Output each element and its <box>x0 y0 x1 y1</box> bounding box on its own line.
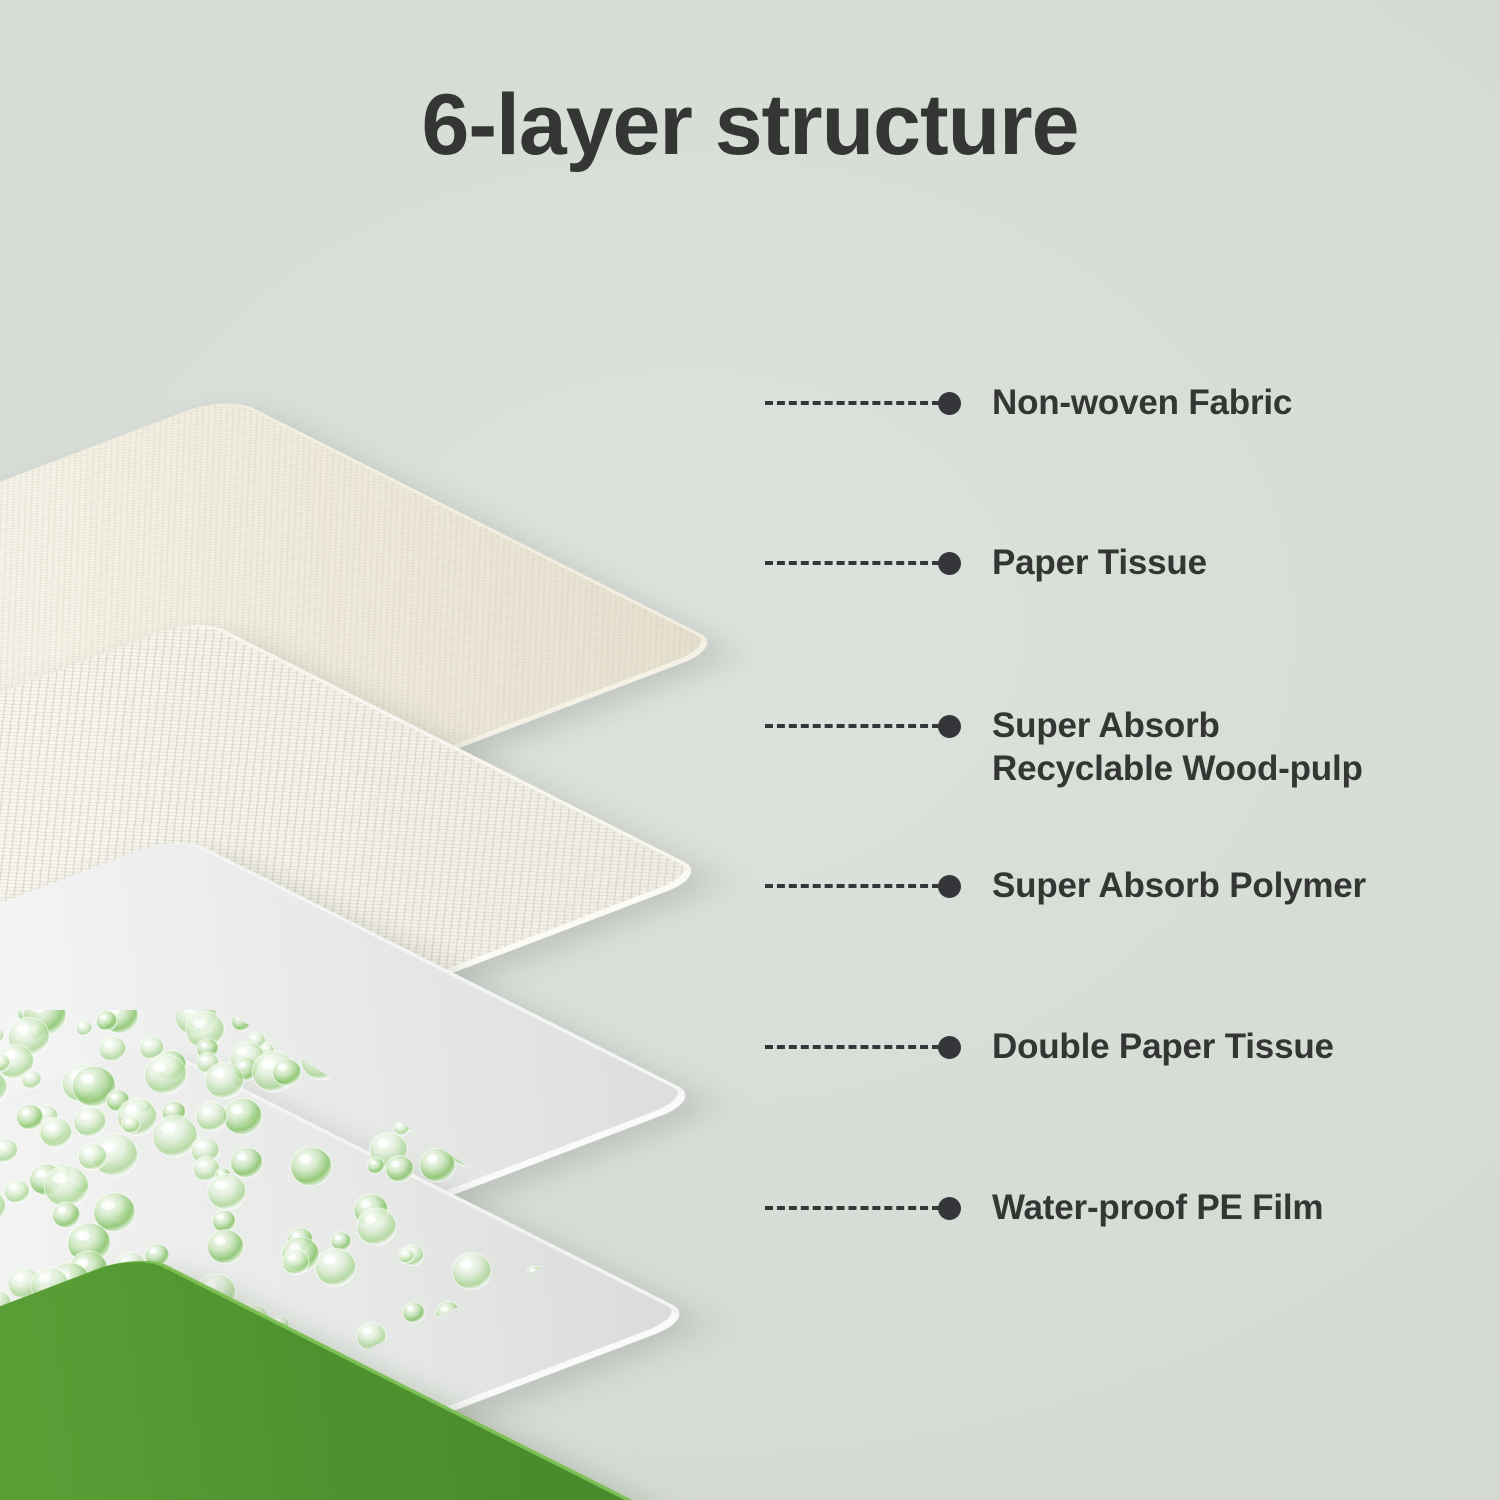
callout-dot-icon <box>938 715 961 738</box>
callout-label-water-proof-pe-film: Water-proof PE Film <box>992 1186 1323 1229</box>
leader-line-icon <box>765 884 940 888</box>
callout-dot-icon <box>938 392 961 415</box>
callout-label-double-paper-tissue: Double Paper Tissue <box>992 1025 1334 1068</box>
leader-line-icon <box>765 401 940 405</box>
callout-label-wood-pulp: Super Absorb Recyclable Wood-pulp <box>992 704 1363 791</box>
callout-dot-icon <box>938 875 961 898</box>
callout-dot-icon <box>938 1197 961 1220</box>
callout-dot-icon <box>938 552 961 575</box>
callout-label-non-woven-fabric: Non-woven Fabric <box>992 381 1292 424</box>
callout-label-paper-tissue: Paper Tissue <box>992 541 1207 584</box>
callout-dot-icon <box>938 1036 961 1059</box>
leader-line-icon <box>765 561 940 565</box>
callout-label-super-absorb-polymer: Super Absorb Polymer <box>992 864 1366 907</box>
leader-line-icon <box>765 724 940 728</box>
layer-graphic-water-proof-pe-film <box>0 1092 520 1500</box>
leader-line-icon <box>765 1045 940 1049</box>
leader-line-icon <box>765 1206 940 1210</box>
layer-stack-illustration <box>0 250 870 1500</box>
page-title: 6-layer structure <box>0 82 1500 168</box>
infographic-canvas: 6-layer structure <box>0 0 1500 1500</box>
